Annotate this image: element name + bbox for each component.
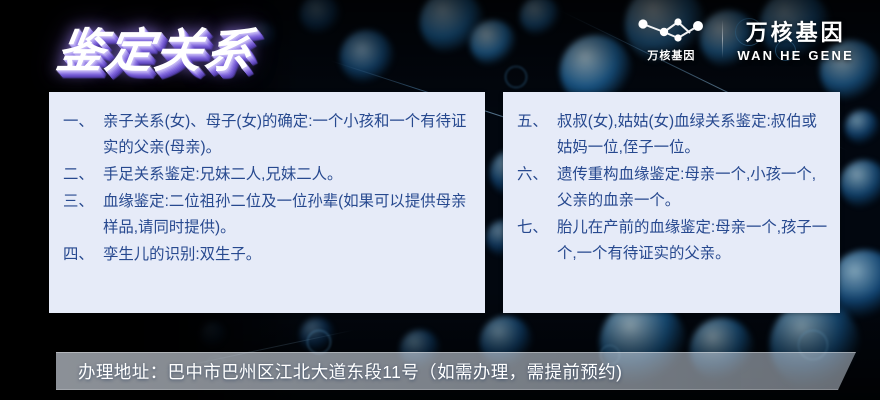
list-item-text: 亲子关系(女)、母子(女)的确定:一个小孩和一个有待证实的父亲(母亲)。: [103, 109, 473, 161]
list-item-number: 六、: [517, 162, 557, 188]
list-item: 三、 血缘鉴定:二位祖孙二位及一位孙辈(如果可以提供母亲样品,请同时提供)。: [63, 189, 473, 241]
logo-wordmark: 万核基因 WAN HE GENE: [737, 15, 854, 63]
address-banner: 办理地址：巴中市巴州区江北大道东段11号（如需办理，需提前预约): [56, 352, 856, 390]
logo-brand-cn: 万核基因: [746, 15, 846, 47]
logo-mark-label: 万核基因: [647, 47, 695, 63]
list-item-text: 叔叔(女),姑姑(女)血绿关系鉴定:叔伯或姑妈一位,侄子一位。: [557, 109, 828, 161]
list-item-number: 四、: [63, 242, 103, 268]
page-title: 鉴定关系: [53, 12, 260, 81]
address-text: 办理地址：巴中市巴州区江北大道东段11号（如需办理，需提前预约): [78, 359, 622, 384]
logo-mark: 万核基因: [634, 14, 708, 63]
logo-brand-en: WAN HE GENE: [737, 48, 854, 63]
list-item-text: 孪生儿的识别:双生子。: [103, 242, 473, 268]
list-item: 四、 孪生儿的识别:双生子。: [63, 242, 473, 268]
list-item: 二、 手足关系鉴定:兄妹二人,兄妹二人。: [63, 162, 473, 188]
poster-canvas: 鉴定关系: [0, 0, 880, 400]
list-item-number: 一、: [63, 109, 103, 135]
list-item: 七、 胎儿在产前的血缘鉴定:母亲一个,孩子一个,一个有待证实的父亲。: [517, 215, 828, 267]
list-item-text: 血缘鉴定:二位祖孙二位及一位孙辈(如果可以提供母亲样品,请同时提供)。: [103, 189, 473, 241]
molecule-node-icon: [634, 14, 708, 44]
list-item: 一、 亲子关系(女)、母子(女)的确定:一个小孩和一个有待证实的父亲(母亲)。: [63, 109, 473, 161]
right-content-card: 五、 叔叔(女),姑姑(女)血绿关系鉴定:叔伯或姑妈一位,侄子一位。 六、 遗传…: [503, 92, 840, 313]
list-item-number: 二、: [63, 162, 103, 188]
list-item-text: 手足关系鉴定:兄妹二人,兄妹二人。: [103, 162, 473, 188]
logo-divider: [722, 20, 723, 58]
left-content-card: 一、 亲子关系(女)、母子(女)的确定:一个小孩和一个有待证实的父亲(母亲)。 …: [49, 92, 485, 313]
list-item-text: 遗传重构血缘鉴定:母亲一个,小孩一个,父亲的血亲一个。: [557, 162, 828, 214]
brand-logo: 万核基因 万核基因 WAN HE GENE: [634, 14, 854, 63]
list-item-number: 五、: [517, 109, 557, 135]
list-item-number: 七、: [517, 215, 557, 241]
list-item-text: 胎儿在产前的血缘鉴定:母亲一个,孩子一个,一个有待证实的父亲。: [557, 215, 828, 267]
list-item: 六、 遗传重构血缘鉴定:母亲一个,小孩一个,父亲的血亲一个。: [517, 162, 828, 214]
list-item-number: 三、: [63, 189, 103, 215]
content-cards: 一、 亲子关系(女)、母子(女)的确定:一个小孩和一个有待证实的父亲(母亲)。 …: [49, 92, 840, 313]
list-item: 五、 叔叔(女),姑姑(女)血绿关系鉴定:叔伯或姑妈一位,侄子一位。: [517, 109, 828, 161]
